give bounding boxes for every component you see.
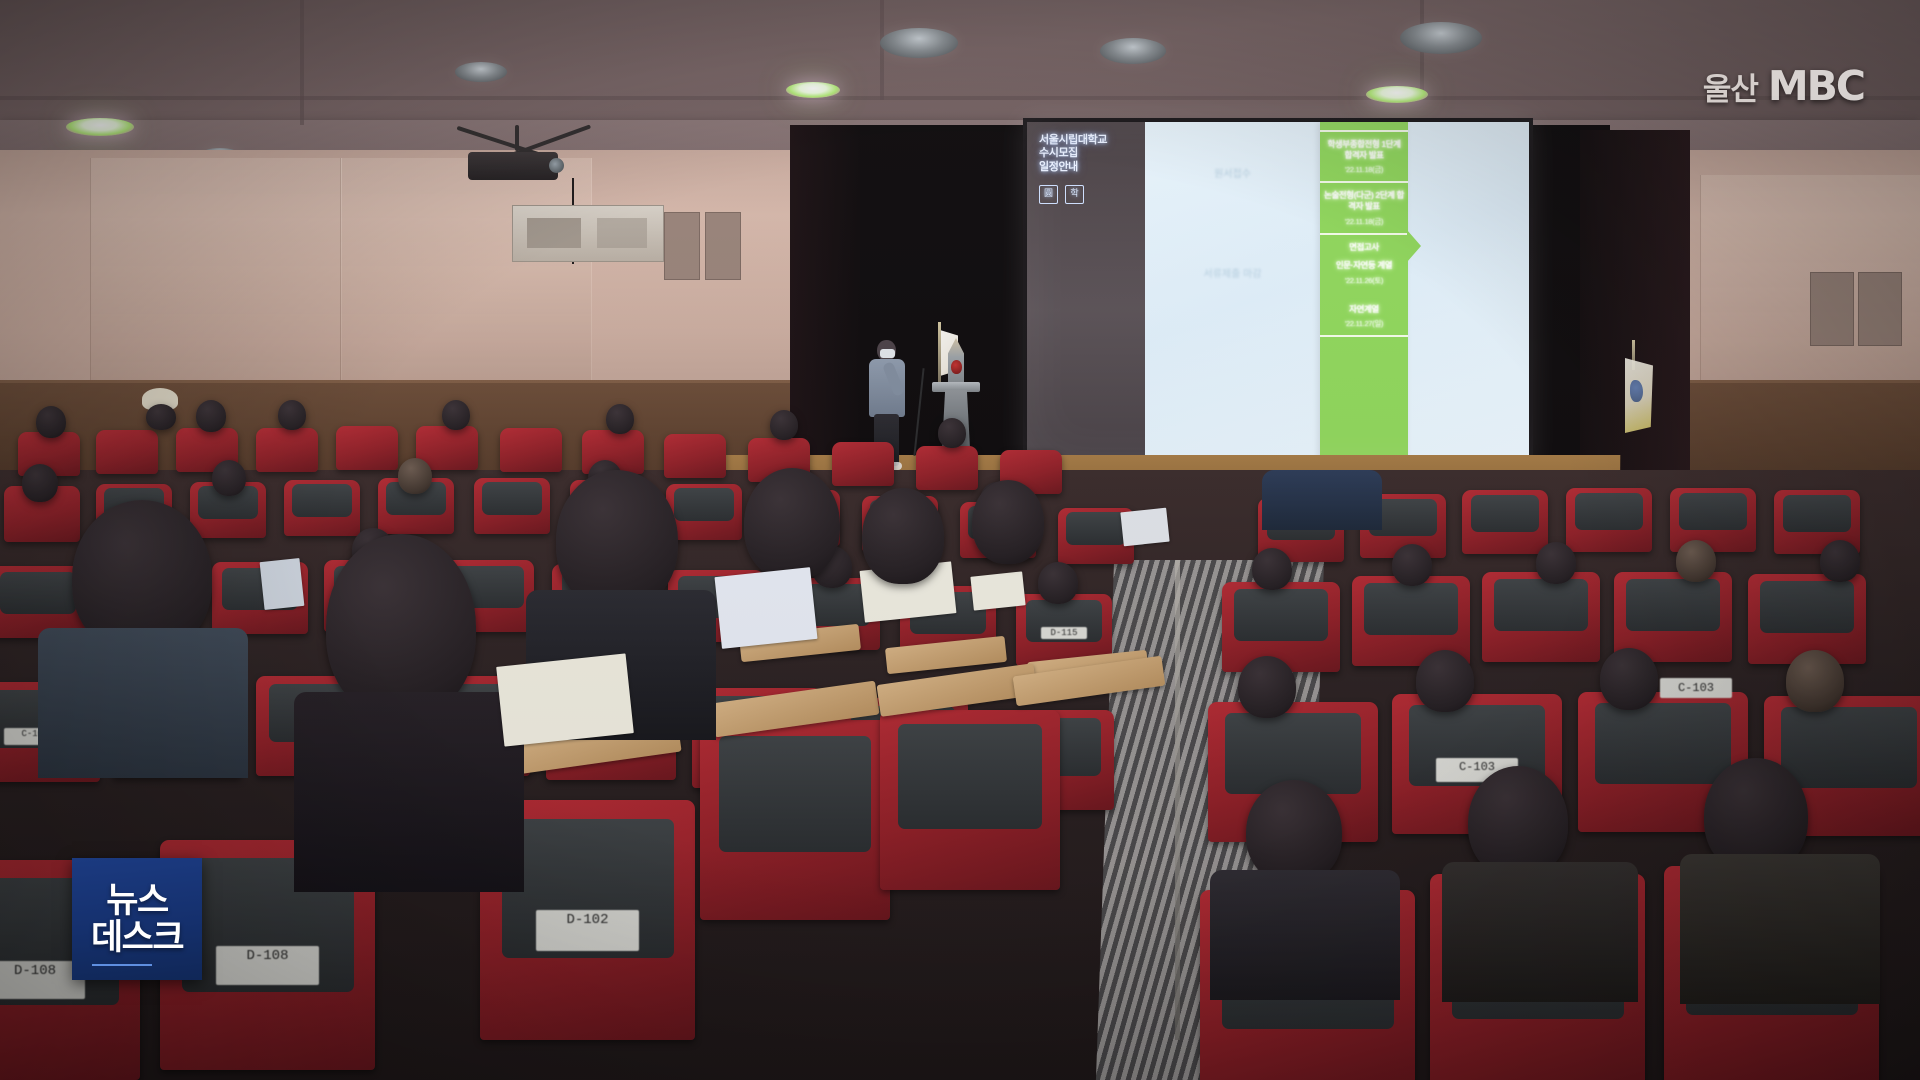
- seat[interactable]: [500, 428, 562, 472]
- seat[interactable]: [474, 478, 550, 534]
- seat-back: [674, 488, 735, 520]
- seat[interactable]: [1670, 488, 1756, 552]
- slide-flow-step: 자연계열 '22.11.27(일): [1320, 292, 1408, 338]
- audience-head: [1392, 544, 1432, 586]
- slide-flow-step-title: 인문·자연등 계열: [1324, 260, 1404, 271]
- seat[interactable]: [1222, 582, 1340, 672]
- audience-head: [1600, 648, 1658, 710]
- program-bug-underline: [92, 964, 152, 966]
- slide-flow-step-title: 학생부종합전형 1단계 합격자 발표: [1324, 139, 1404, 160]
- audience-head: [22, 464, 58, 502]
- seat[interactable]: [916, 446, 978, 490]
- seat-back: [1760, 581, 1854, 633]
- audience-head: [398, 458, 432, 494]
- wall-panel: [90, 158, 342, 398]
- wall-panel: [340, 158, 592, 398]
- audience-shoulders: [38, 628, 248, 778]
- audience-head: [1238, 656, 1296, 718]
- ceiling-downlight: [1400, 22, 1482, 54]
- audience-head: [1416, 650, 1474, 712]
- seat-back: [1364, 583, 1458, 635]
- audience-shoulders: [1680, 854, 1880, 1004]
- slide-badge-icon-1: 圓: [1039, 185, 1058, 204]
- stage-curtain-left: [790, 125, 860, 475]
- seat[interactable]: [700, 720, 890, 920]
- seat[interactable]: [256, 428, 318, 472]
- audience-head: [606, 404, 634, 434]
- audience-seating-area: D-115 C-101 D-102: [0, 470, 1920, 1080]
- ceiling-beam: [0, 96, 1920, 100]
- program-bug-line-2: 데스크: [91, 920, 183, 956]
- slide-left-column: 원서접수 서류제출 마감: [1145, 122, 1320, 464]
- seat-back: [1783, 495, 1852, 532]
- audience-head: [556, 470, 678, 610]
- seat[interactable]: [1566, 488, 1652, 552]
- slide-flow-step: 인문·자연등 계열 '22.11.26(토): [1320, 258, 1408, 292]
- ceiling-projector: [468, 152, 558, 180]
- slide-ghost-label: 원서접수: [1145, 168, 1320, 182]
- handout-paper: [714, 567, 817, 649]
- audience-head: [862, 488, 944, 584]
- audience-head: [36, 406, 66, 438]
- handout-paper: [970, 571, 1025, 610]
- slide-flow-step-title: 면접고사: [1324, 242, 1404, 253]
- audience-head: [1820, 540, 1860, 582]
- audience-shoulders: [1210, 870, 1400, 1000]
- podium-emblem-icon: [951, 360, 962, 374]
- seat[interactable]: [832, 442, 894, 486]
- handout-paper: [1120, 508, 1169, 547]
- slide-header-panel: 서울시립대학교 수시모집 일정안내 圓 학: [1027, 122, 1145, 464]
- program-bug: 뉴스 데스크: [72, 858, 202, 980]
- audience-head: [212, 460, 246, 496]
- slide-flow-step: 학생부종합전형 1단계 합격자 발표 '22.11.18(금): [1320, 130, 1408, 183]
- seat-back: [1575, 493, 1644, 530]
- audience-head: [1252, 548, 1292, 590]
- audience-head: [972, 480, 1044, 564]
- audience-head: [1676, 540, 1716, 582]
- ceiling-downlight: [880, 28, 958, 58]
- ceiling-beam: [880, 0, 884, 100]
- audience-head: [770, 410, 798, 440]
- seat-back: [1781, 707, 1917, 788]
- audience-head: [1038, 562, 1078, 604]
- slide-badge-icon-2: 학: [1065, 185, 1084, 204]
- audience-head: [442, 400, 470, 430]
- audience-head: [196, 400, 226, 432]
- wall-vent-grille: [1810, 272, 1854, 346]
- seat-back: [1679, 493, 1748, 530]
- ceiling-accent-light: [66, 118, 134, 136]
- seat-number-tag: D-108: [216, 946, 319, 985]
- handout-paper: [260, 558, 305, 610]
- projector-lens-icon: [549, 158, 564, 173]
- seat-back: [1066, 512, 1127, 544]
- seat[interactable]: [96, 430, 158, 474]
- slide-flow-step-title: 자연계열: [1324, 304, 1404, 315]
- slide-title-line-1: 서울시립대학교: [1039, 134, 1137, 147]
- audience-head: [1246, 780, 1342, 884]
- face-mask-icon: [880, 349, 895, 358]
- wall-vent-grille: [1858, 272, 1902, 346]
- ceiling-downlight: [455, 62, 507, 82]
- slide-surface: 서울시립대학교 수시모집 일정안내 圓 학 원서접수 서류제출 마감 학생부종합…: [1027, 122, 1529, 464]
- seat[interactable]: [664, 434, 726, 478]
- seat-back: [1471, 495, 1540, 532]
- slide-flow-step-date: '22.11.18(금): [1324, 216, 1404, 227]
- seat[interactable]: [1462, 490, 1548, 554]
- ceiling-beam: [300, 0, 304, 125]
- ceiling-downlight: [1100, 38, 1166, 64]
- program-bug-line-1: 뉴스: [106, 883, 167, 919]
- audience-shoulders: [1442, 862, 1638, 1002]
- seat-back: [292, 484, 353, 516]
- slide-flow-step-date: '22.11.18(금): [1324, 164, 1404, 175]
- slide-badge-row: 圓 학: [1039, 185, 1137, 204]
- ceiling-accent-light: [1366, 86, 1428, 103]
- aisle-handrail: [1175, 560, 1180, 1040]
- seat[interactable]: [336, 426, 398, 470]
- seat-number-tag: D-102: [536, 910, 639, 951]
- seat-number-tag: D-115: [1041, 627, 1087, 639]
- slide-body: 원서접수 서류제출 마감 학생부종합전형 1단계 합격자 발표 '22.11.1…: [1145, 122, 1529, 464]
- slide-flow-column: 학생부종합전형 1단계 합격자 발표 '22.11.18(금) 논술전형(다군)…: [1320, 122, 1408, 464]
- slide-title-line-2: 수시모집: [1039, 147, 1137, 160]
- audience-head: [744, 468, 840, 580]
- slide-flow-step-date: '22.11.27(일): [1324, 318, 1404, 329]
- broadcast-frame: 서울시립대학교 수시모집 일정안내 圓 학 원서접수 서류제출 마감 학생부종합…: [0, 0, 1920, 1080]
- seat[interactable]: [880, 710, 1060, 890]
- wall-equipment-cabinet: [512, 205, 664, 262]
- audience-head: [278, 400, 306, 430]
- wall-vent-grille: [664, 212, 700, 280]
- slide-flow-step: 논술전형(다군) 2단계 합격자 발표 '22.11.18(금): [1320, 183, 1408, 234]
- institution-flag-emblem-icon: [1630, 380, 1643, 402]
- seat-back: [898, 724, 1042, 828]
- seat-back: [719, 736, 871, 852]
- audience-head: [146, 404, 176, 430]
- audience-shoulders: [294, 692, 524, 892]
- slide-flow-step-date: '22.11.26(토): [1324, 275, 1404, 286]
- seat-back: [0, 572, 76, 614]
- handout-paper: [496, 653, 634, 746]
- slide-right-column: [1408, 122, 1529, 464]
- audience-head: [938, 418, 966, 448]
- seat[interactable]: [1482, 572, 1600, 662]
- wall-vent-grille: [705, 212, 741, 280]
- seat[interactable]: [284, 480, 360, 536]
- audience-head: [1536, 542, 1576, 584]
- slide-flow-step-title: 논술전형(다군) 2단계 합격자 발표: [1324, 190, 1404, 211]
- seat-back: [1234, 589, 1328, 641]
- seat-back: [1626, 579, 1720, 631]
- audience-shoulders: [1262, 470, 1382, 530]
- projection-screen: 서울시립대학교 수시모집 일정안내 圓 학 원서접수 서류제출 마감 학생부종합…: [1023, 118, 1533, 468]
- seat-back: [482, 482, 543, 514]
- slide-flow-step: 면접고사: [1320, 235, 1408, 259]
- slide-ghost-label: 서류제출 마감: [1145, 268, 1320, 282]
- audience-head: [1786, 650, 1844, 712]
- slide-title-line-3: 일정안내: [1039, 161, 1137, 174]
- seat-number-tag: C-103: [1660, 678, 1732, 698]
- seat-back: [1494, 579, 1588, 631]
- ceiling-accent-light: [786, 82, 840, 98]
- seat-back: [1595, 703, 1731, 784]
